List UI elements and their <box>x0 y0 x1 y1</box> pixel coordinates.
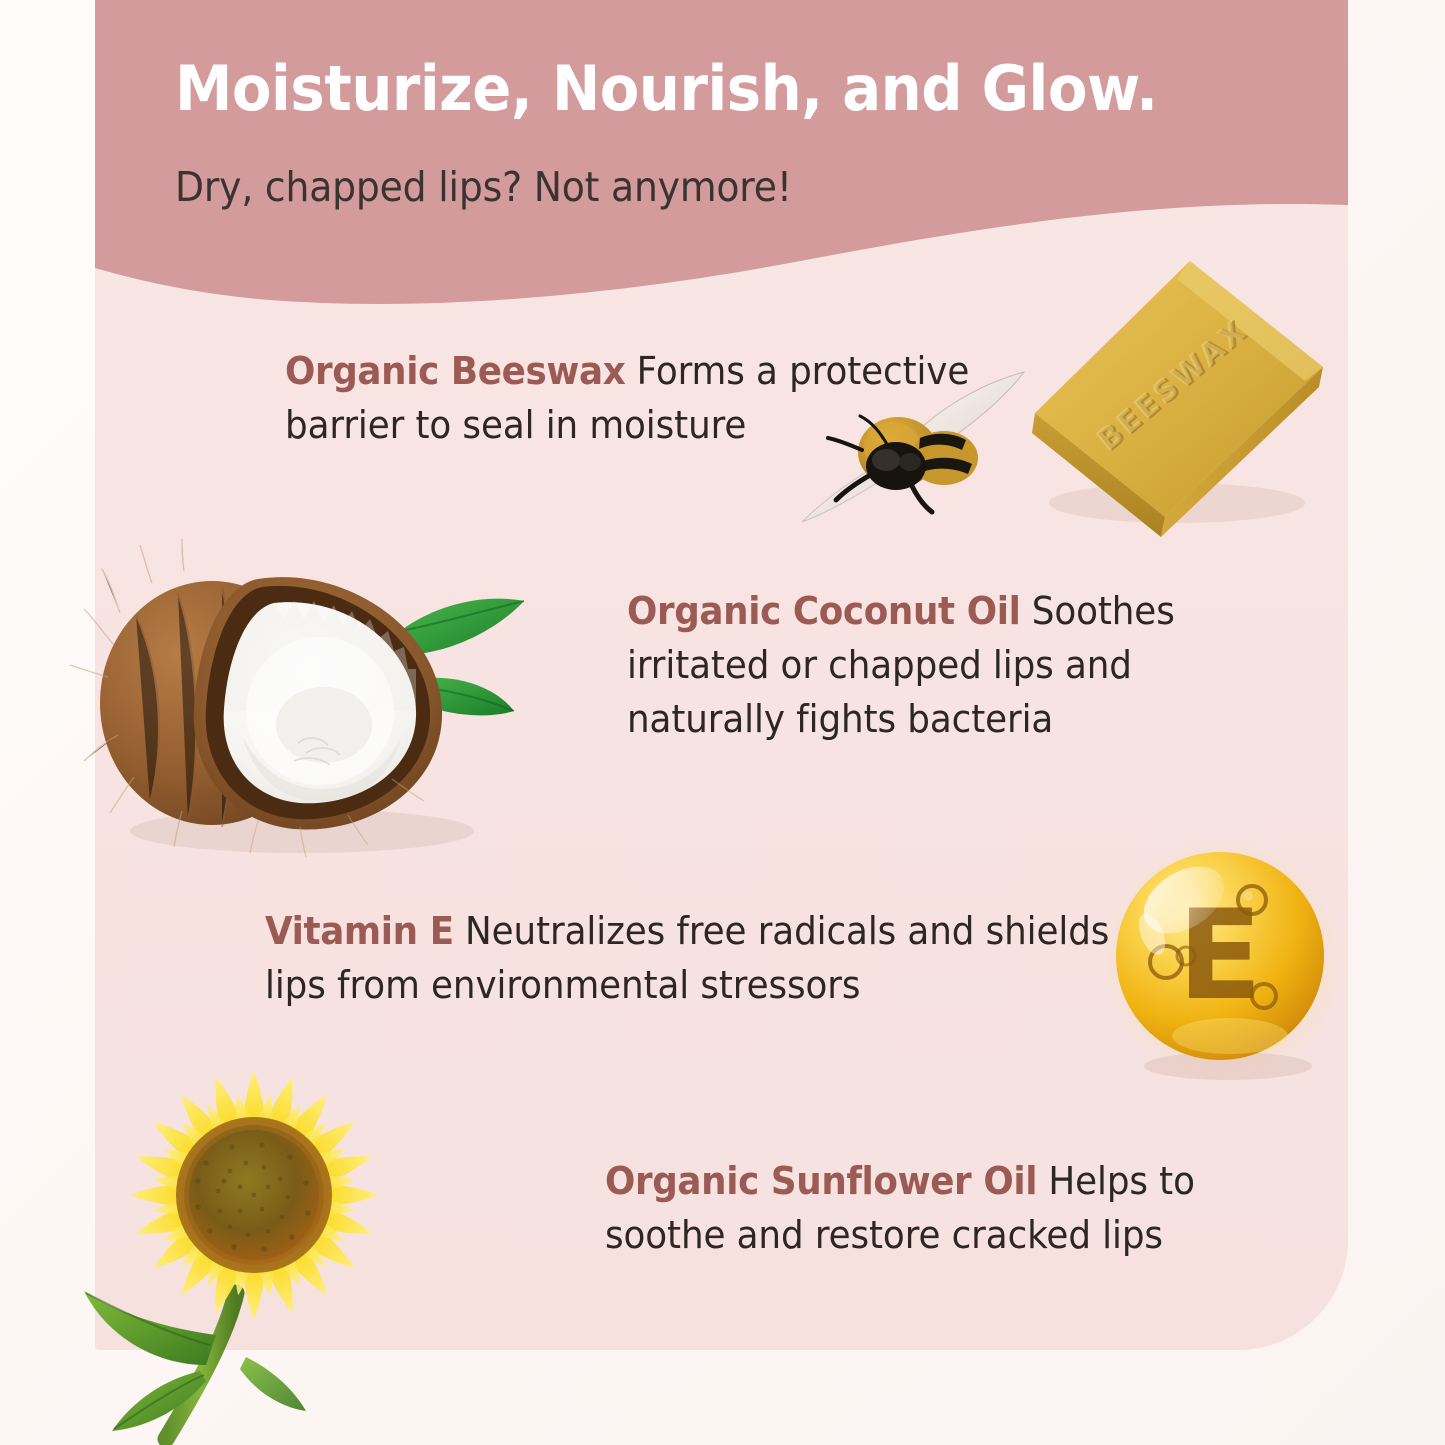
benefit-vitamin-e: Vitamin E Neutralizes free radicals and … <box>265 905 1130 1013</box>
infographic-canvas: Moisturize, Nourish, and Glow. Dry, chap… <box>0 0 1445 1445</box>
page-subtitle: Dry, chapped lips? Not anymore! <box>175 165 1187 210</box>
sunflower-stem <box>166 1293 236 1439</box>
benefit-sunflower: Organic Sunflower Oil Helps to soothe an… <box>605 1155 1301 1263</box>
benefit-beeswax-title: Organic Beeswax <box>285 349 625 393</box>
benefit-vitamin-e-title: Vitamin E <box>265 909 454 953</box>
page-title: Moisturize, Nourish, and Glow. <box>175 56 1217 121</box>
benefit-coconut-title: Organic Coconut Oil <box>627 589 1020 633</box>
beeswax-bar-image: BEESWAX BEESWAX <box>1005 245 1345 545</box>
vitamin-e-capsule-image: E <box>1098 838 1348 1088</box>
benefit-sunflower-title: Organic Sunflower Oil <box>605 1159 1037 1203</box>
benefit-coconut: Organic Coconut Oil Soothes irritated or… <box>627 585 1285 747</box>
coconut-image <box>62 535 542 860</box>
honeybee-image <box>800 370 1030 535</box>
sunflower-leaf-right <box>240 1357 306 1411</box>
sunflower-image <box>40 1035 470 1445</box>
